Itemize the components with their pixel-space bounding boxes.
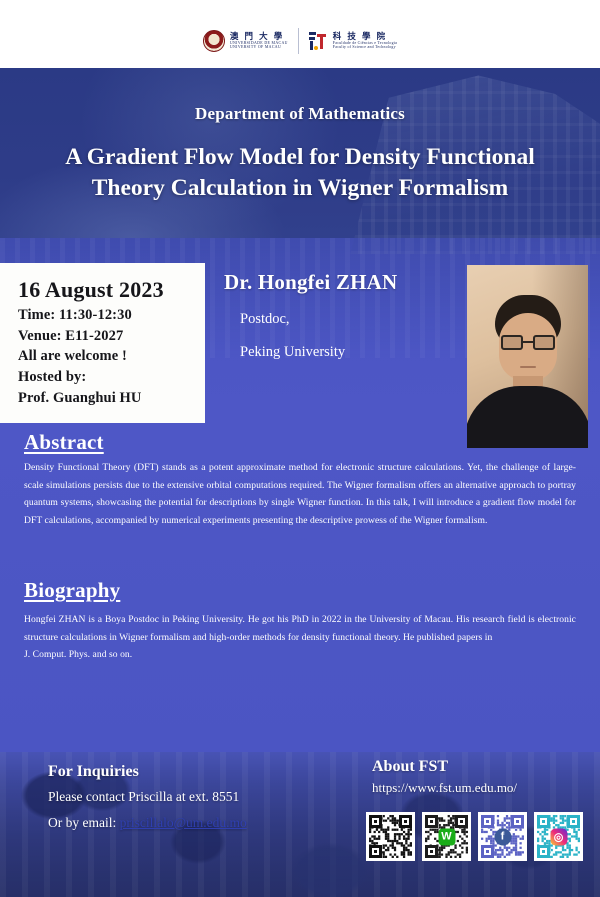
- page-title: A Gradient Flow Model for Density Functi…: [60, 142, 540, 204]
- um-logo-en: UNIVERSITY OF MACAU: [230, 45, 288, 49]
- department-label: Department of Mathematics: [0, 104, 600, 124]
- glasses-icon: [501, 335, 555, 350]
- inquiries-heading: For Inquiries: [48, 763, 139, 781]
- website-qr-code[interactable]: [366, 812, 415, 861]
- about-fst-url[interactable]: https://www.fst.um.edu.mo/: [372, 780, 517, 796]
- abstract-heading: Abstract: [24, 430, 104, 455]
- inquiries-email-link[interactable]: priscillalo@um.edu.mo: [120, 815, 247, 830]
- event-date: 16 August 2023: [18, 277, 193, 302]
- qr-code-row: W f ◎: [366, 812, 583, 861]
- facebook-icon: f: [494, 828, 511, 845]
- biography-paragraph: Hongfei ZHAN is a Boya Postdoc in Peking…: [24, 614, 576, 643]
- event-hosted-label: Hosted by:: [18, 367, 193, 388]
- fst-mark-icon: [309, 31, 328, 51]
- inquiries-email-prefix: Or by email:: [48, 815, 120, 830]
- event-welcome-note: All are welcome !: [18, 346, 193, 367]
- fst-logo-text: 科 技 學 院 Faculdade de Ciências e Tecnolog…: [333, 32, 397, 49]
- instagram-qr-code[interactable]: ◎: [534, 812, 583, 861]
- fst-logo-cn: 科 技 學 院: [333, 32, 397, 41]
- inquiries-contact-line: Please contact Priscilla at ext. 8551: [48, 789, 239, 805]
- fst-logo: 科 技 學 院 Faculdade de Ciências e Tecnolog…: [309, 31, 397, 51]
- speaker-photo: [467, 265, 588, 448]
- abstract-text: Density Functional Theory (DFT) stands a…: [24, 459, 576, 530]
- biography-text: Hongfei ZHAN is a Boya Postdoc in Peking…: [24, 611, 576, 664]
- um-crest-icon: [203, 30, 225, 52]
- event-time: Time: 11:30-12:30: [18, 305, 193, 326]
- about-fst-heading: About FST: [372, 758, 448, 776]
- instagram-icon: ◎: [550, 828, 567, 845]
- event-host: Prof. Guanghui HU: [18, 388, 193, 409]
- event-details-box: 16 August 2023 Time: 11:30-12:30 Venue: …: [0, 263, 205, 423]
- poster-header: 澳 門 大 學 UNIVERSIDADE DE MACAU UNIVERSITY…: [0, 0, 600, 68]
- speaker-affiliation: Peking University: [240, 344, 345, 361]
- logo-divider: [298, 28, 299, 54]
- event-venue: Venue: E11-2027: [18, 326, 193, 347]
- logo-row: 澳 門 大 學 UNIVERSIDADE DE MACAU UNIVERSITY…: [0, 28, 600, 54]
- wechat-icon: W: [438, 828, 455, 845]
- wechat-qr-code[interactable]: W: [422, 812, 471, 861]
- inquiries-email-line: Or by email: priscillalo@um.edu.mo: [48, 815, 247, 831]
- speaker-name: Dr. Hongfei ZHAN: [224, 270, 397, 295]
- um-logo-text: 澳 門 大 學 UNIVERSIDADE DE MACAU UNIVERSITY…: [230, 32, 288, 49]
- seminar-poster: 澳 門 大 學 UNIVERSIDADE DE MACAU UNIVERSITY…: [0, 0, 600, 897]
- biography-tail: J. Comput. Phys. and so on.: [24, 646, 576, 664]
- biography-heading: Biography: [24, 578, 120, 603]
- university-of-macau-logo: 澳 門 大 學 UNIVERSIDADE DE MACAU UNIVERSITY…: [203, 30, 288, 52]
- speaker-role: Postdoc,: [240, 311, 290, 328]
- fst-logo-en: Faculty of Science and Technology: [333, 45, 397, 49]
- um-logo-cn: 澳 門 大 學: [230, 32, 288, 41]
- facebook-qr-code[interactable]: f: [478, 812, 527, 861]
